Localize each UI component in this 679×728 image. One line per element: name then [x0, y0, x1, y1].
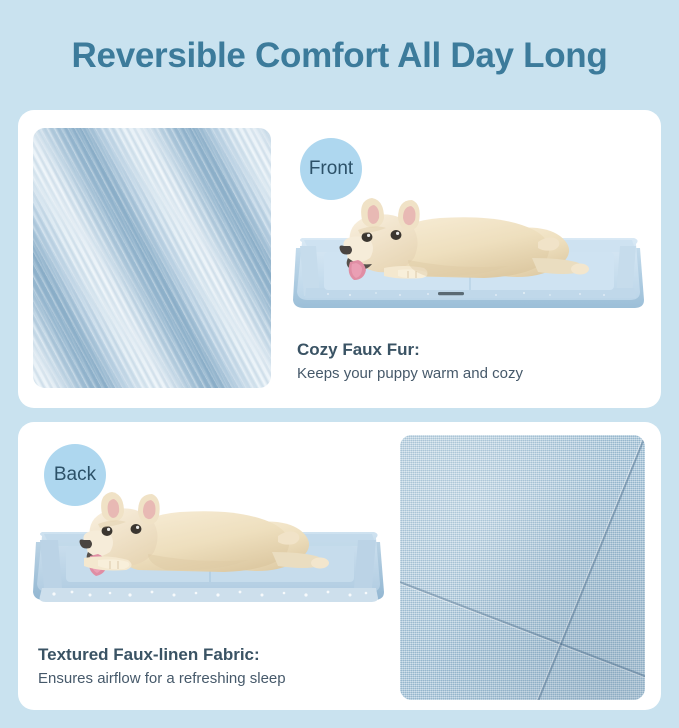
badge-front: Front [300, 138, 362, 200]
caption-back-title: Textured Faux-linen Fabric: [38, 645, 286, 665]
caption-front-subtitle: Keeps your puppy warm and cozy [297, 365, 523, 382]
caption-front: Cozy Faux Fur: Keeps your puppy warm and… [297, 340, 523, 382]
caption-back-subtitle: Ensures airflow for a refreshing sleep [38, 670, 286, 687]
linen-shading-overlay [400, 435, 645, 700]
badge-back: Back [44, 444, 106, 506]
caption-back: Textured Faux-linen Fabric: Ensures airf… [38, 645, 286, 687]
caption-front-title: Cozy Faux Fur: [297, 340, 523, 360]
dog-bed-front-photo [288, 196, 650, 328]
faux-fur-texture-photo [33, 128, 271, 388]
faux-linen-texture-photo [400, 435, 645, 700]
dog-bed-back-photo [28, 492, 390, 624]
page-title: Reversible Comfort All Day Long [0, 36, 679, 76]
